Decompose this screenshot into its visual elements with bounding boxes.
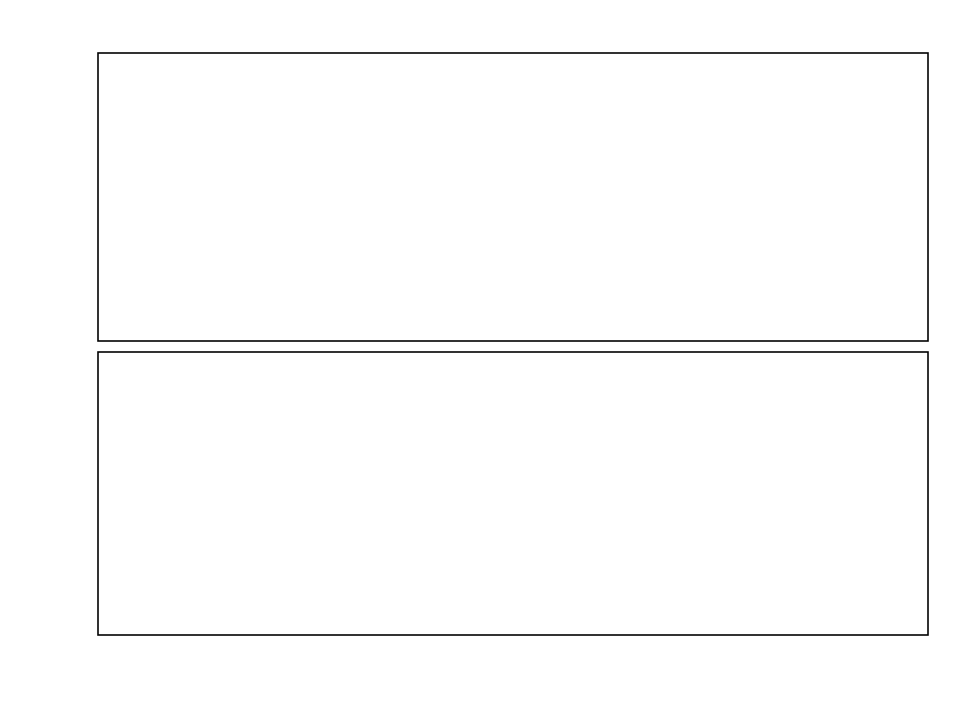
figure-canvas: [0, 0, 960, 720]
figure-background: [0, 0, 960, 720]
matplotlib-figure: [0, 0, 960, 720]
